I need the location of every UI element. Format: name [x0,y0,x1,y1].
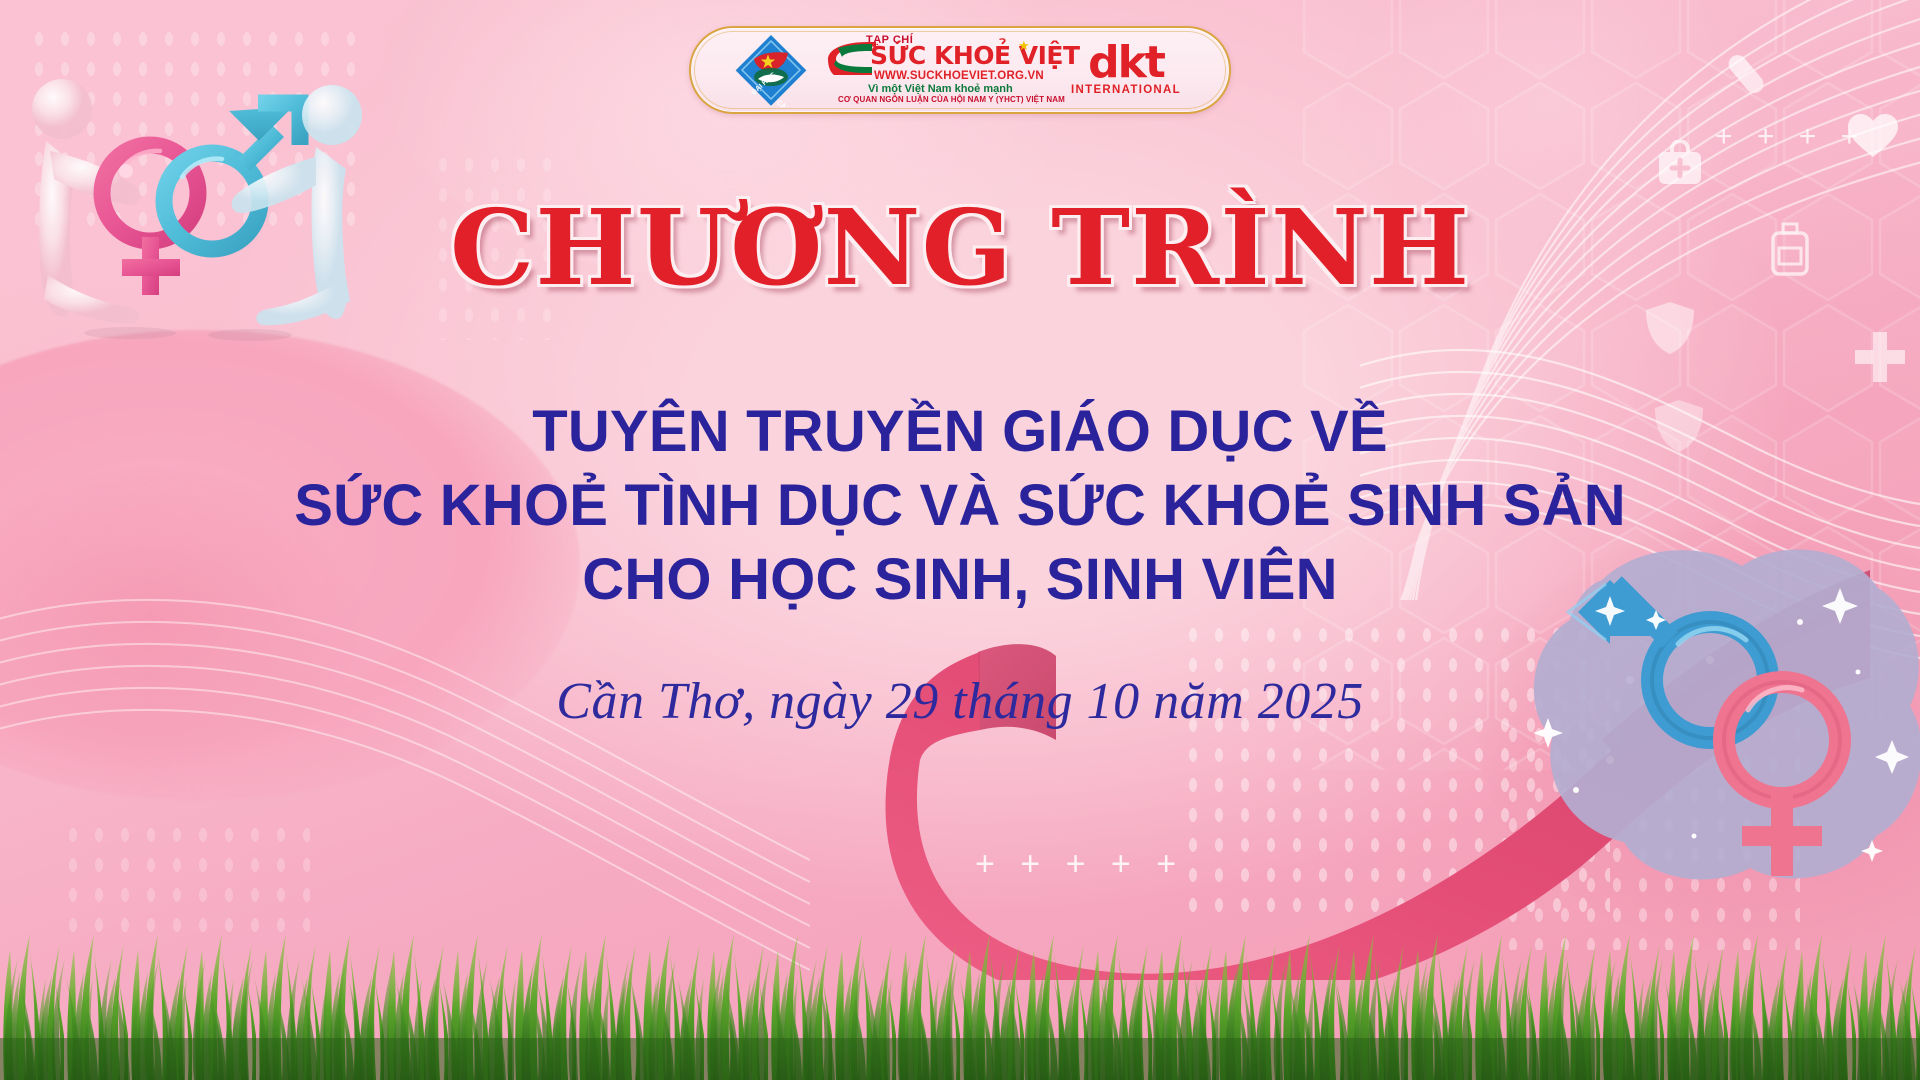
program-title: CHƯƠNG TRÌNH [0,196,1920,300]
subtitle-line-2: SỨC KHOẺ TÌNH DỤC VÀ SỨC KHOẺ SINH SẢN [0,472,1920,539]
university-logo-text-right: CẦN THƠ [775,97,806,107]
medical-bag-icon [1653,140,1707,188]
university-logo-icon: ĐẠI HỌC CẦN THƠ [734,33,808,107]
grass-band [0,910,1920,1080]
plus-marks-top-right: + + + + [1715,120,1866,154]
magazine-star-icon: ★ [1018,38,1030,54]
subtitle-line-3: CHO HỌC SINH, SINH VIÊN [0,546,1920,613]
logo-bar: ĐẠI HỌC CẦN THƠ TẠP CHÍ SỨC KHOẺ VIỆT ★ … [689,26,1231,114]
date-line: Cần Thơ, ngày 29 tháng 10 năm 2025 [0,672,1920,731]
capsule-pill-icon [1720,48,1772,100]
banner-canvas: + + + + [0,0,1920,1080]
magazine-name: SỨC KHOẺ VIỆT [870,43,1080,68]
subtitle-line-1: TUYÊN TRUYỀN GIÁO DỤC VỀ [0,398,1920,465]
medical-cross-icon [1853,330,1907,384]
shield-icon [1644,300,1696,356]
left-gender-symbol-illustration [10,45,390,345]
partner-logo: dkt INTERNATIONAL [1066,39,1186,101]
plus-marks-center: + + + + + [975,845,1184,884]
partner-logo-name: dkt [1088,44,1164,83]
magazine-logo: TẠP CHÍ SỨC KHOẺ VIỆT ★ WWW.SUCKHOEVIET.… [822,33,1052,107]
magazine-organization: CƠ QUAN NGÔN LUẬN CỦA HỘI NAM Y (YHCT) V… [838,95,1065,104]
partner-logo-subtitle: INTERNATIONAL [1071,84,1181,96]
magazine-url: WWW.SUCKHOEVIET.ORG.VN [874,70,1044,82]
magazine-slogan: Vì một Việt Nam khoẻ mạnh [868,83,1013,95]
